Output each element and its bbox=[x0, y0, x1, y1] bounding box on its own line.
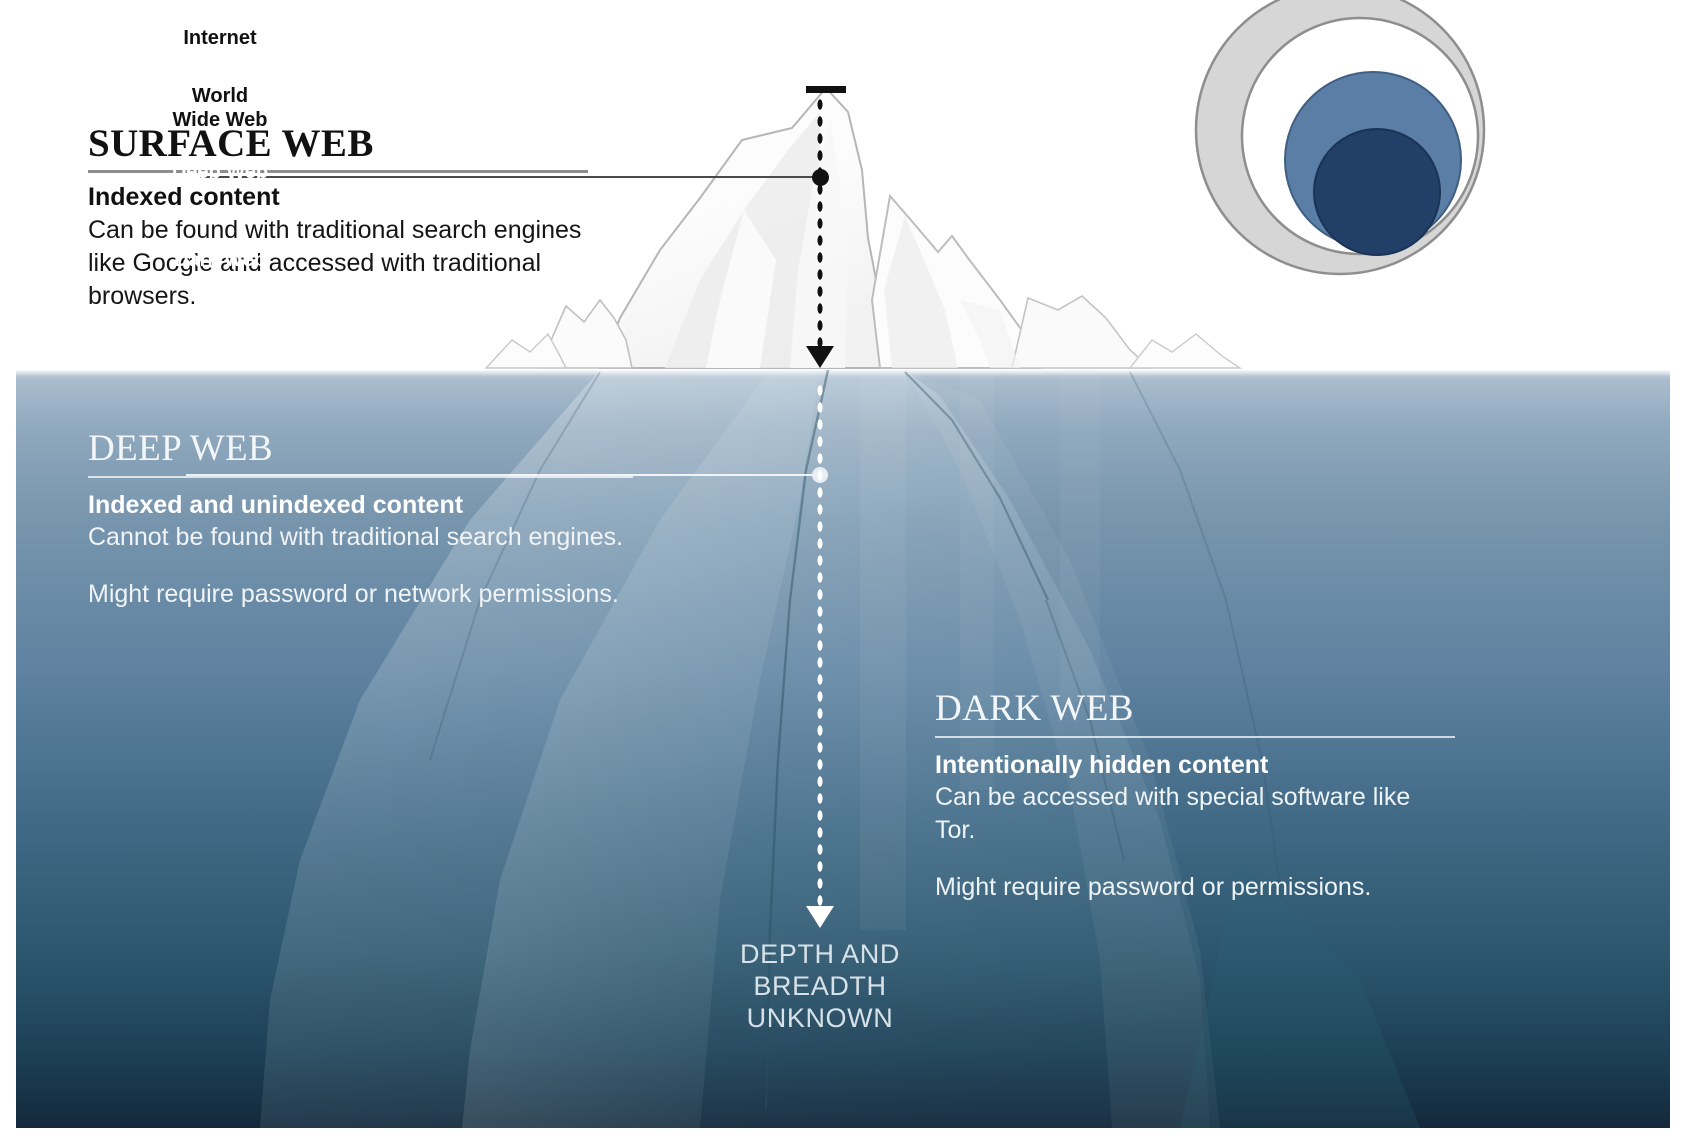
deep-web-subtitle: Indexed and unindexed content bbox=[88, 489, 633, 521]
waterline-sheen bbox=[16, 370, 1670, 376]
dark-web-rule bbox=[935, 736, 1455, 738]
depth-scale-dotted-line-above-water bbox=[816, 96, 824, 348]
venn-label-internet: Internet bbox=[130, 26, 310, 50]
deep-web-title: DEEP WEB bbox=[88, 428, 633, 470]
depth-breadth-unknown-caption: DEPTH AND BREADTH UNKNOWN bbox=[680, 938, 960, 1034]
infographic-canvas: DEEP WEB Indexed and unindexed content C… bbox=[0, 0, 1685, 1146]
depth-scale-dotted-line-below-water bbox=[816, 382, 824, 906]
deep-web-rule bbox=[88, 476, 633, 478]
venn-label-deep-web: Deep Web bbox=[130, 160, 310, 184]
dark-web-body-second: Might require password or permissions. bbox=[935, 871, 1455, 904]
depth-scale-top-tick bbox=[806, 86, 846, 93]
deep-web-leader-line bbox=[186, 474, 821, 476]
nested-web-layers-diagram bbox=[1155, 0, 1525, 314]
venn-label-world-wide-web: World Wide Web bbox=[130, 84, 310, 132]
dark-web-subtitle: Intentionally hidden content bbox=[935, 749, 1455, 781]
deep-web-body: Cannot be found with traditional search … bbox=[88, 521, 633, 554]
deep-web-body-second: Might require password or network permis… bbox=[88, 578, 633, 611]
dark-web-title: DARK WEB bbox=[935, 688, 1455, 730]
deep-web-text-block: DEEP WEB Indexed and unindexed content C… bbox=[88, 428, 633, 611]
dark-web-text-block: DARK WEB Intentionally hidden content Ca… bbox=[935, 688, 1455, 904]
waterline-arrow-icon bbox=[806, 346, 834, 368]
surface-web-text-block: SURFACE WEB Indexed content Can be found… bbox=[88, 122, 588, 313]
dark-web-body: Can be accessed with special software li… bbox=[935, 781, 1455, 847]
surface-web-subtitle: Indexed content bbox=[88, 182, 588, 213]
depth-unknown-arrow-icon bbox=[806, 906, 834, 928]
venn-label-dark-web: Dark Web bbox=[130, 248, 310, 272]
